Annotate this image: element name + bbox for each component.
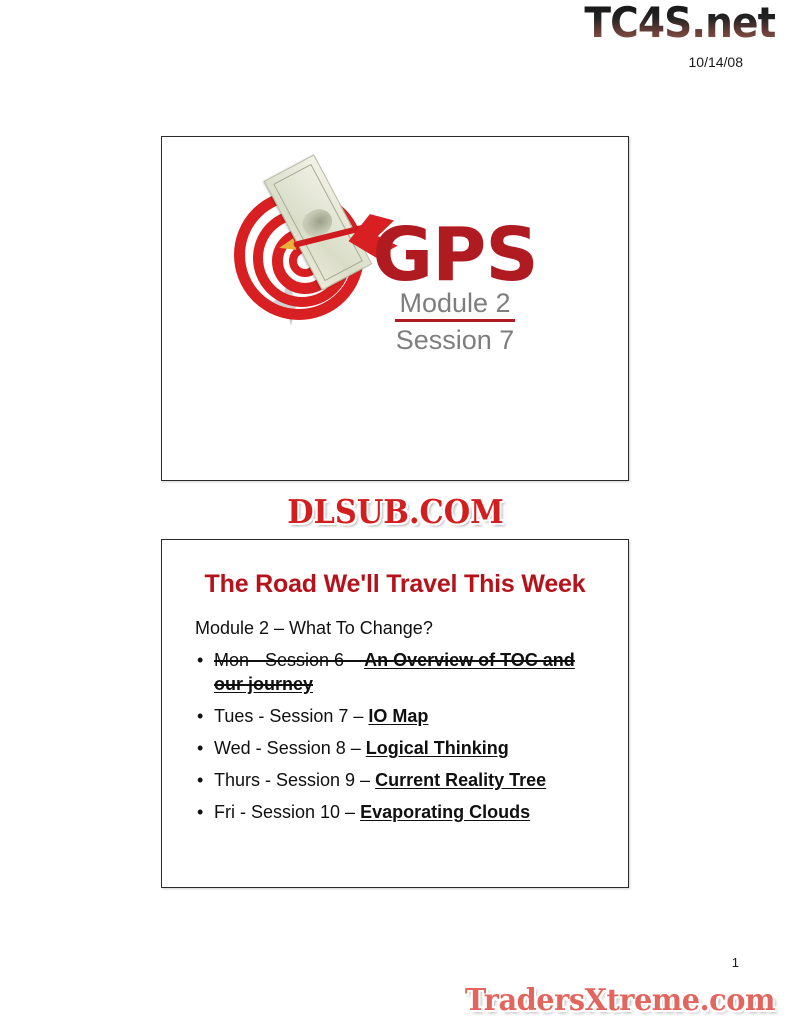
slide-one: GPS Module 2 Session 7	[161, 136, 629, 481]
bullet-dot-icon: •	[197, 649, 203, 673]
agenda-item: •Tues - Session 7 – IO Map	[192, 705, 606, 729]
page-number: 1	[732, 955, 739, 970]
bullet-dot-icon: •	[197, 705, 203, 729]
agenda-item-topic: Evaporating Clouds	[360, 802, 530, 822]
agenda-item-topic: Current Reality Tree	[375, 770, 546, 790]
agenda-item-day: Tues - Session 7 –	[214, 706, 368, 726]
agenda-item: •Fri - Session 10 – Evaporating Clouds	[192, 801, 606, 825]
agenda-item-day: Thurs - Session 9 –	[214, 770, 375, 790]
agenda-item: •Wed - Session 8 – Logical Thinking	[192, 737, 606, 761]
bullet-dot-icon: •	[197, 737, 203, 761]
header-date: 10/14/08	[689, 54, 744, 70]
agenda-item-topic: IO Map	[368, 706, 428, 726]
gps-word: GPS	[340, 224, 570, 288]
agenda-item-topic: Logical Thinking	[366, 738, 509, 758]
site-logo: TC4S.net	[584, 2, 775, 44]
gps-logo: GPS Module 2 Session 7	[222, 182, 572, 412]
page-title: The Road We'll Travel This Week	[162, 570, 628, 599]
dlsub-watermark: DLSUB.COM	[32, 492, 760, 531]
session-label: Session 7	[340, 322, 570, 356]
bullet-dot-icon: •	[197, 769, 203, 793]
module-label: Module 2	[395, 288, 514, 322]
agenda-item-day: Mon - Session 6 –	[214, 650, 364, 670]
slide-two: The Road We'll Travel This Week Module 2…	[161, 539, 629, 888]
agenda-item: •Mon - Session 6 – An Overview of TOC an…	[192, 649, 606, 697]
agenda-body: Module 2 – What To Change? •Mon - Sessio…	[192, 618, 606, 833]
agenda-item-day: Fri - Session 10 –	[214, 802, 360, 822]
agenda-item: •Thurs - Session 9 – Current Reality Tre…	[192, 769, 606, 793]
agenda-list: •Mon - Session 6 – An Overview of TOC an…	[192, 649, 606, 825]
agenda-lead-line: Module 2 – What To Change?	[192, 618, 606, 639]
footer-watermark: TradersXtreme.com	[465, 983, 775, 1018]
gps-wordmark: GPS Module 2 Session 7	[340, 224, 570, 356]
bullet-dot-icon: •	[197, 801, 203, 825]
agenda-item-day: Wed - Session 8 –	[214, 738, 366, 758]
